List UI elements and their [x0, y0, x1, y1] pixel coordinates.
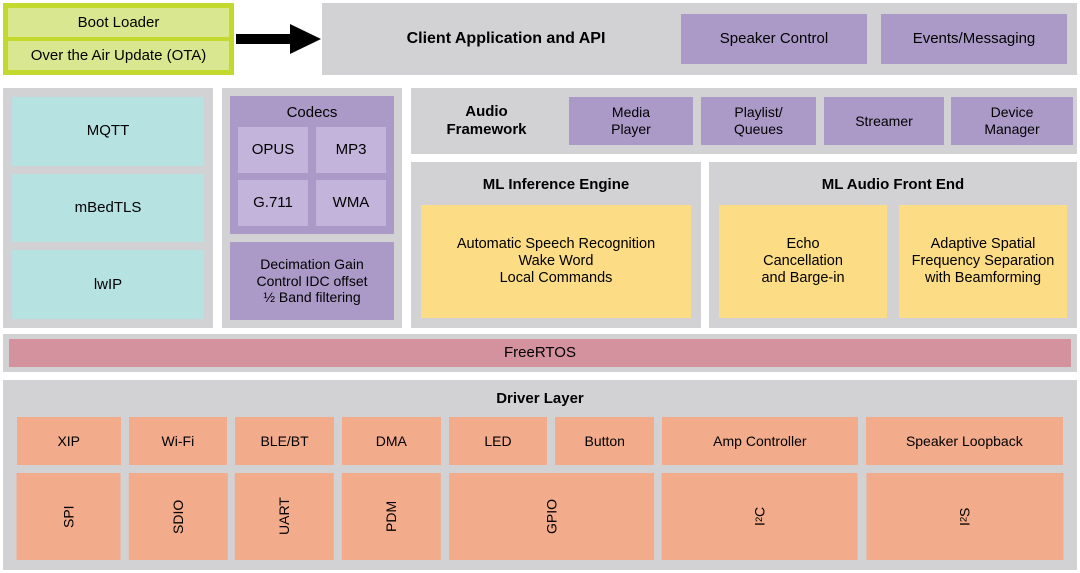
media-player-block[interactable]: MediaPlayer: [569, 97, 693, 145]
driver-block-led[interactable]: LED: [449, 417, 548, 465]
driver-block-ble-bt[interactable]: BLE/BT: [235, 417, 334, 465]
codecs-row-1: OPUS MP3: [238, 127, 386, 173]
driver-layer-panel: Driver Layer XIPWi-FiBLE/BTDMALEDButtonA…: [3, 380, 1077, 570]
driver-block-amp-controller[interactable]: Amp Controller: [662, 417, 858, 465]
codec-g711[interactable]: G.711: [238, 180, 308, 226]
driver-block-xip[interactable]: XIP: [17, 417, 121, 465]
driver-block-uart[interactable]: UART: [235, 473, 334, 560]
driver-block-pdm[interactable]: PDM: [342, 473, 441, 560]
driver-bottom-row: SPISDIOUARTPDMGPIOI2CI2S: [17, 473, 1063, 560]
driver-block-wi-fi[interactable]: Wi-Fi: [129, 417, 228, 465]
codec-opus[interactable]: OPUS: [238, 127, 308, 173]
asr-wakeword-card[interactable]: Automatic Speech RecognitionWake WordLoc…: [421, 205, 691, 318]
driver-block-dma[interactable]: DMA: [342, 417, 441, 465]
speaker-control-block[interactable]: Speaker Control: [681, 14, 867, 64]
lwip-block[interactable]: lwIP: [12, 250, 204, 319]
ml-audio-front-end-body: EchoCancellationand Barge-in Adaptive Sp…: [719, 205, 1067, 318]
driver-block-button[interactable]: Button: [555, 417, 654, 465]
playlist-queues-block[interactable]: Playlist/Queues: [701, 97, 816, 145]
driver-block-sdio[interactable]: SDIO: [129, 473, 228, 560]
driver-block-spi[interactable]: SPI: [17, 473, 121, 560]
freertos-panel: FreeRTOS: [3, 334, 1077, 372]
codec-wma[interactable]: WMA: [316, 180, 386, 226]
driver-block-i2s[interactable]: I2S: [866, 473, 1063, 560]
driver-block-gpio[interactable]: GPIO: [449, 473, 654, 560]
right-arrow-icon: [236, 23, 322, 55]
client-application-title: Client Application and API: [336, 3, 676, 75]
ota-update-block[interactable]: Over the Air Update (OTA): [8, 41, 229, 70]
codec-mp3[interactable]: MP3: [316, 127, 386, 173]
mqtt-block[interactable]: MQTT: [12, 97, 204, 166]
events-messaging-block[interactable]: Events/Messaging: [881, 14, 1067, 64]
ml-inference-engine-body: Automatic Speech RecognitionWake WordLoc…: [421, 205, 691, 318]
freertos-bar[interactable]: FreeRTOS: [9, 339, 1071, 367]
device-manager-block[interactable]: DeviceManager: [951, 97, 1073, 145]
audio-framework-title: AudioFramework: [419, 88, 554, 154]
ml-inference-engine-panel: ML Inference Engine Automatic Speech Rec…: [411, 162, 701, 328]
network-stack-panel: MQTT mBedTLS lwIP: [3, 88, 213, 328]
beamforming-card[interactable]: Adaptive SpatialFrequency Separationwith…: [899, 205, 1067, 318]
bootloader-group: Boot Loader Over the Air Update (OTA): [3, 3, 234, 75]
ml-inference-engine-title: ML Inference Engine: [421, 172, 691, 205]
driver-top-row: XIPWi-FiBLE/BTDMALEDButtonAmp Controller…: [17, 417, 1063, 465]
ml-audio-front-end-panel: ML Audio Front End EchoCancellationand B…: [709, 162, 1077, 328]
codecs-group: Codecs OPUS MP3 G.711 WMA: [230, 96, 394, 234]
decimation-gain-block[interactable]: Decimation GainControl IDC offset½ Band …: [230, 242, 394, 320]
codec-column-panel: Codecs OPUS MP3 G.711 WMA Decimation Gai…: [222, 88, 402, 328]
echo-cancellation-card[interactable]: EchoCancellationand Barge-in: [719, 205, 887, 318]
boot-loader-block[interactable]: Boot Loader: [8, 8, 229, 37]
driver-block-speaker-loopback[interactable]: Speaker Loopback: [866, 417, 1063, 465]
ml-audio-front-end-title: ML Audio Front End: [719, 172, 1067, 205]
driver-layer-title: Driver Layer: [17, 386, 1063, 417]
streamer-block[interactable]: Streamer: [824, 97, 944, 145]
codecs-row-2: G.711 WMA: [238, 180, 386, 226]
driver-block-i2c[interactable]: I2C: [662, 473, 858, 560]
codecs-title: Codecs: [238, 102, 386, 127]
mbedtls-block[interactable]: mBedTLS: [12, 174, 204, 243]
